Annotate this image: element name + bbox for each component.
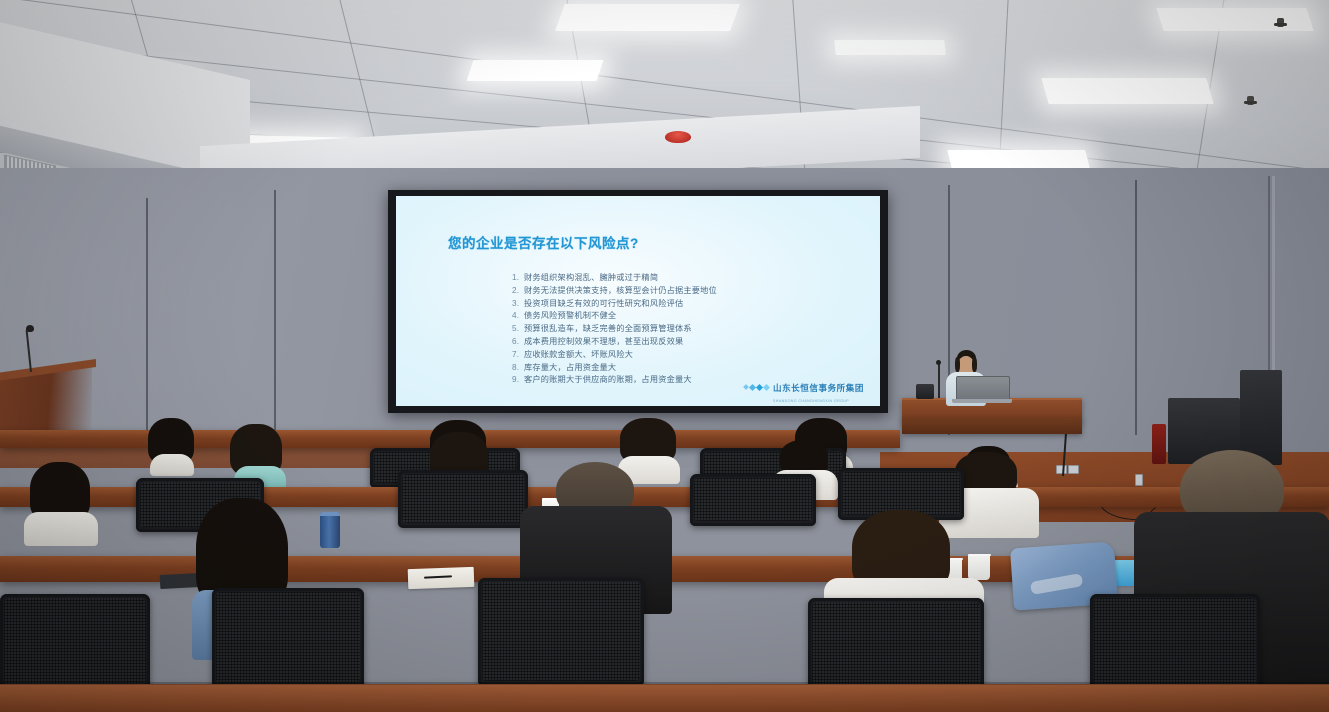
chair — [690, 474, 816, 526]
fire-alarm-icon — [665, 131, 691, 143]
presenter-microphone-icon — [936, 360, 941, 365]
slide-bullet-item: 7.应收账款金额大、坏账风险大 — [512, 349, 717, 362]
presenter-hair-side — [955, 357, 960, 372]
sprinkler-head — [1247, 96, 1254, 105]
slide-bullet-item: 1.财务组织架构混乱、臃肿或过于精简 — [512, 272, 717, 285]
sprinkler-head — [1277, 18, 1284, 27]
bullet-text: 债务风险预警机制不健全 — [524, 311, 616, 320]
ceiling-light-panel — [1041, 78, 1213, 104]
thermos-bottle — [320, 512, 340, 548]
diamond-icon — [744, 385, 769, 390]
slide-bullet-item: 2.财务无法提供决策支持，核算型会计仍占据主要地位 — [512, 285, 717, 298]
slide-bullet-item: 4.债务风险预警机制不健全 — [512, 310, 717, 323]
wall-seam — [274, 190, 276, 440]
company-logo: 山东长恒信事务所集团 SHANDONG CHANGHENGXIN GROUP — [744, 378, 864, 396]
fire-extinguisher — [1152, 424, 1166, 464]
presenter-microphone-stem — [938, 364, 940, 398]
paper-cup — [968, 554, 990, 580]
chair — [808, 598, 984, 694]
slide-bullet-item: 8.库存量大，占用资金量大 — [512, 362, 717, 375]
slide-bullet-item: 6.成本费用控制效果不理想，甚至出现反效果 — [512, 336, 717, 349]
wall-seam — [1135, 180, 1137, 435]
projection-screen: 您的企业是否存在以下风险点? 1.财务组织架构混乱、臃肿或过于精简 2.财务无法… — [396, 196, 880, 406]
slide-title: 您的企业是否存在以下风险点? — [448, 232, 639, 252]
chair — [1090, 594, 1260, 694]
slide-bullet-list: 1.财务组织架构混乱、臃肿或过于精简 2.财务无法提供决策支持，核算型会计仍占据… — [512, 272, 717, 387]
bullet-number: 6. — [512, 336, 524, 349]
bullet-number: 3. — [512, 298, 524, 311]
chair-frame — [478, 578, 644, 686]
bullet-number: 2. — [512, 285, 524, 298]
notebook — [408, 567, 475, 589]
chair-frame — [0, 594, 150, 690]
bullet-number: 8. — [512, 362, 524, 375]
ceiling-light-panel — [1156, 8, 1313, 31]
chair — [398, 470, 528, 528]
slide-bullet-item: 9.客户的账期大于供应商的账期，占用资金量大 — [512, 374, 717, 387]
bullet-number: 5. — [512, 323, 524, 336]
bullet-text: 应收账款金额大、坏账风险大 — [524, 350, 633, 359]
chair — [478, 578, 644, 686]
person-torso — [24, 512, 98, 546]
conference-room-photo: 您的企业是否存在以下风险点? 1.财务组织架构混乱、臃肿或过于精简 2.财务无法… — [0, 0, 1329, 712]
wall-outlet — [1135, 474, 1143, 486]
chair-frame — [398, 470, 528, 528]
ceiling-light-panel — [834, 40, 946, 55]
slide-bullet-item: 3.投资项目缺乏有效的可行性研究和风险评估 — [512, 298, 717, 311]
bullet-text: 财务无法提供决策支持，核算型会计仍占据主要地位 — [524, 286, 717, 295]
chair-frame — [808, 598, 984, 694]
tablet-device — [160, 573, 201, 589]
jacket-collar — [1030, 573, 1083, 595]
bullet-text: 客户的账期大于供应商的账期，占用资金量大 — [524, 375, 692, 384]
presenter-desk-front — [902, 418, 1082, 434]
bullet-text: 库存量大，占用资金量大 — [524, 363, 616, 372]
ceiling-light-panel — [555, 4, 740, 31]
desk-equipment — [916, 384, 934, 399]
logo-name-cn: 山东长恒信事务所集团 — [773, 383, 864, 393]
wall-seam — [146, 198, 148, 443]
chair-frame — [690, 474, 816, 526]
bullet-number: 9. — [512, 374, 524, 387]
ceiling-light-panel — [467, 60, 604, 81]
presenter-laptop-base — [952, 399, 1012, 403]
chair-frame — [212, 588, 364, 688]
bullet-text: 财务组织架构混乱、臃肿或过于精简 — [524, 273, 658, 282]
wall-outlet — [1068, 465, 1079, 474]
chair — [0, 594, 150, 690]
bullet-number: 4. — [512, 310, 524, 323]
chair-frame — [1090, 594, 1260, 694]
bullet-number: 1. — [512, 272, 524, 285]
podium-microphone-icon — [26, 325, 34, 332]
bullet-text: 投资项目缺乏有效的可行性研究和风险评估 — [524, 299, 683, 308]
bullet-text: 预算很乱造车，缺乏完善的全面预算管理体系 — [524, 324, 692, 333]
bullet-number: 7. — [512, 349, 524, 362]
chair — [212, 588, 364, 688]
logo-name-en: SHANDONG CHANGHENGXIN GROUP — [773, 399, 849, 403]
person-torso — [150, 454, 194, 476]
desk-shadow — [0, 682, 1329, 685]
bullet-text: 成本费用控制效果不理想，甚至出现反效果 — [524, 337, 683, 346]
presenter-hair-side — [972, 357, 977, 372]
slide-bullet-item: 5.预算很乱造车，缺乏完善的全面预算管理体系 — [512, 323, 717, 336]
foreground-desk — [0, 684, 1329, 712]
